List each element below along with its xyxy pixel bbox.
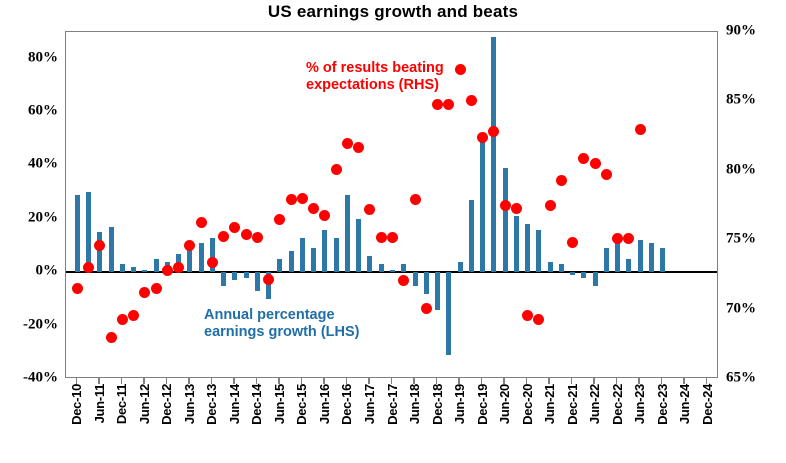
data-point bbox=[241, 229, 252, 240]
bar bbox=[581, 272, 586, 277]
bar bbox=[75, 195, 80, 272]
data-point bbox=[117, 314, 128, 325]
data-point bbox=[545, 200, 556, 211]
data-point bbox=[364, 204, 375, 215]
bar bbox=[401, 264, 406, 272]
x-axis-tick-label: Dec-13 bbox=[204, 384, 219, 425]
y-axis-left-tick-label: 20% bbox=[28, 209, 58, 226]
bar bbox=[469, 200, 474, 272]
y-axis-right-tick-label: 85% bbox=[726, 92, 756, 109]
annotation-rhs: % of results beating expectations (RHS) bbox=[306, 60, 444, 94]
bar bbox=[322, 230, 327, 273]
bar bbox=[142, 270, 147, 273]
bar bbox=[525, 224, 530, 272]
bar bbox=[120, 264, 125, 272]
data-point bbox=[319, 210, 330, 221]
bar bbox=[424, 272, 429, 293]
bar bbox=[334, 238, 339, 273]
data-point bbox=[229, 222, 240, 233]
x-axis-tick-label: Dec-23 bbox=[655, 384, 670, 425]
bar bbox=[131, 267, 136, 272]
x-axis-tick-label: Jun-11 bbox=[92, 384, 107, 423]
bar bbox=[300, 238, 305, 273]
chart-container: US earnings growth and beats -40%-20%0%2… bbox=[0, 0, 786, 463]
x-axis-tick-label: Dec-15 bbox=[294, 384, 309, 425]
bar bbox=[458, 262, 463, 273]
data-point bbox=[218, 231, 229, 242]
x-axis-tick-label: Jun-14 bbox=[227, 384, 242, 424]
bar bbox=[446, 272, 451, 355]
data-point bbox=[410, 194, 421, 205]
x-axis-tick-label: Jun-24 bbox=[677, 384, 692, 424]
data-point bbox=[466, 95, 477, 106]
data-point bbox=[421, 303, 432, 314]
x-axis-tick-label: Jun-18 bbox=[407, 384, 422, 424]
data-point bbox=[612, 233, 623, 244]
bar bbox=[604, 248, 609, 272]
x-axis-tick-label: Dec-19 bbox=[475, 384, 490, 425]
data-point bbox=[184, 240, 195, 251]
annotation-lhs: Annual percentage earnings growth (LHS) bbox=[204, 307, 359, 341]
data-point bbox=[376, 232, 387, 243]
x-axis-tick-label: Dec-24 bbox=[700, 384, 715, 425]
bar bbox=[356, 219, 361, 272]
y-axis-left-tick-label: 80% bbox=[28, 49, 58, 66]
data-point bbox=[106, 332, 117, 343]
data-point bbox=[601, 169, 612, 180]
bar bbox=[660, 248, 665, 272]
bar bbox=[277, 259, 282, 272]
data-point bbox=[432, 99, 443, 110]
x-axis-tick-label: Dec-16 bbox=[339, 384, 354, 425]
x-axis-tick-label: Dec-18 bbox=[430, 384, 445, 425]
y-axis-right-tick-label: 80% bbox=[726, 161, 756, 178]
x-axis-tick-label: Dec-20 bbox=[520, 384, 535, 425]
data-point bbox=[128, 310, 139, 321]
bar bbox=[649, 243, 654, 272]
bar bbox=[638, 240, 643, 272]
bar bbox=[559, 264, 564, 272]
bar bbox=[345, 195, 350, 272]
bar bbox=[187, 248, 192, 272]
x-axis-tick-label: Dec-11 bbox=[114, 384, 129, 424]
data-point bbox=[522, 310, 533, 321]
data-point bbox=[477, 132, 488, 143]
data-point bbox=[207, 257, 218, 268]
data-point bbox=[94, 240, 105, 251]
y-axis-right: 65%70%75%80%85%90% bbox=[726, 31, 786, 378]
x-axis-tick-label: Dec-12 bbox=[159, 384, 174, 425]
bar bbox=[289, 251, 294, 272]
data-point bbox=[578, 153, 589, 164]
y-axis-left-tick-label: 60% bbox=[28, 103, 58, 120]
y-axis-left-tick-label: 0% bbox=[36, 263, 59, 280]
data-point bbox=[274, 214, 285, 225]
data-point bbox=[162, 265, 173, 276]
x-axis-tick-label: Jun-22 bbox=[587, 384, 602, 424]
bar bbox=[413, 272, 418, 285]
x-axis-tick-label: Dec-22 bbox=[610, 384, 625, 425]
bar bbox=[548, 262, 553, 273]
bar bbox=[514, 216, 519, 272]
bar bbox=[311, 248, 316, 272]
x-axis-tick-label: Dec-14 bbox=[249, 384, 264, 425]
data-point bbox=[556, 175, 567, 186]
bar bbox=[435, 272, 440, 309]
bar bbox=[109, 227, 114, 272]
x-axis-tick-label: Jun-23 bbox=[632, 384, 647, 424]
x-axis-tick-label: Dec-21 bbox=[565, 384, 580, 425]
data-point bbox=[72, 283, 83, 294]
bar bbox=[593, 272, 598, 285]
data-point bbox=[590, 158, 601, 169]
data-point bbox=[342, 138, 353, 149]
data-point bbox=[623, 233, 634, 244]
bar bbox=[255, 272, 260, 291]
bar bbox=[390, 270, 395, 273]
bar bbox=[626, 259, 631, 272]
bar bbox=[536, 230, 541, 273]
data-point bbox=[511, 203, 522, 214]
data-point bbox=[286, 194, 297, 205]
chart-title: US earnings growth and beats bbox=[0, 2, 786, 22]
bar bbox=[154, 259, 159, 272]
x-axis-tick-label: Jun-19 bbox=[452, 384, 467, 424]
data-point bbox=[455, 64, 466, 75]
bar bbox=[86, 192, 91, 272]
x-axis-tick-label: Jun-20 bbox=[497, 384, 512, 424]
data-point bbox=[500, 200, 511, 211]
data-point bbox=[139, 287, 150, 298]
bar bbox=[480, 139, 485, 272]
data-point bbox=[353, 142, 364, 153]
data-point bbox=[151, 283, 162, 294]
data-point bbox=[533, 314, 544, 325]
y-axis-right-tick-label: 90% bbox=[726, 23, 756, 40]
data-point bbox=[331, 164, 342, 175]
bar bbox=[232, 272, 237, 280]
data-point bbox=[263, 274, 274, 285]
y-axis-left-tick-label: 40% bbox=[28, 156, 58, 173]
y-axis-left: -40%-20%0%20%40%60%80% bbox=[0, 31, 58, 378]
x-axis-tick-label: Jun-13 bbox=[182, 384, 197, 424]
x-axis-tick-label: Dec-17 bbox=[385, 384, 400, 425]
x-axis-labels: Dec-10Jun-11Dec-11Jun-12Dec-12Jun-13Dec-… bbox=[0, 384, 786, 463]
data-point bbox=[398, 275, 409, 286]
data-point bbox=[635, 124, 646, 135]
bar bbox=[570, 272, 575, 275]
y-axis-left-tick-label: -20% bbox=[23, 316, 58, 333]
bar bbox=[367, 256, 372, 272]
data-point bbox=[297, 193, 308, 204]
bar bbox=[503, 168, 508, 272]
x-axis-tick-label: Jun-16 bbox=[317, 384, 332, 424]
data-point bbox=[488, 126, 499, 137]
data-point bbox=[252, 232, 263, 243]
data-point bbox=[567, 237, 578, 248]
bar bbox=[491, 37, 496, 272]
y-axis-right-tick-label: 75% bbox=[726, 231, 756, 248]
bar bbox=[199, 243, 204, 272]
x-axis-tick-label: Dec-10 bbox=[69, 384, 84, 425]
x-axis-tick-label: Jun-15 bbox=[272, 384, 287, 424]
bar bbox=[97, 232, 102, 272]
bar bbox=[221, 272, 226, 285]
x-axis-tick-label: Jun-21 bbox=[542, 384, 557, 424]
x-axis-tick-label: Jun-17 bbox=[362, 384, 377, 424]
data-point bbox=[387, 232, 398, 243]
data-point bbox=[443, 99, 454, 110]
y-axis-right-tick-label: 70% bbox=[726, 300, 756, 317]
bar bbox=[379, 264, 384, 272]
data-point bbox=[196, 217, 207, 228]
bar bbox=[244, 272, 249, 277]
data-point bbox=[308, 203, 319, 214]
x-axis-tick-label: Jun-12 bbox=[137, 384, 152, 424]
